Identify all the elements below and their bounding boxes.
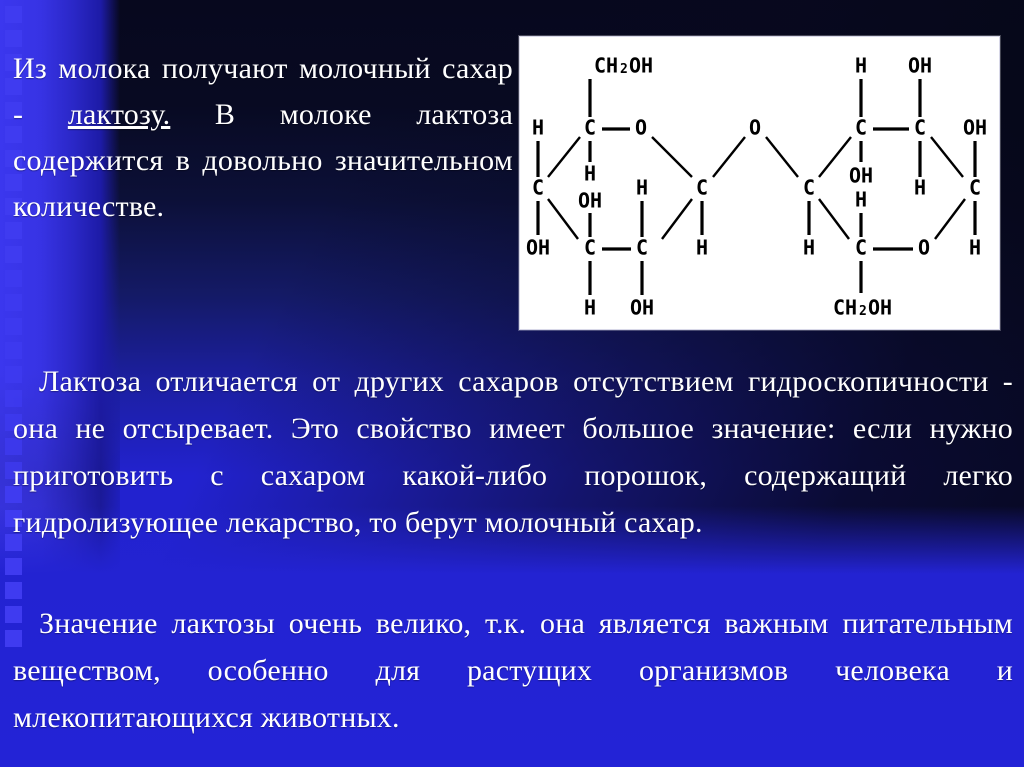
atom-sub-2-left: 2	[620, 62, 628, 77]
atom-label-oh-top-right: OH	[908, 54, 932, 78]
atom-label-c1-right: C	[969, 176, 981, 200]
bond-c4-c5-right	[819, 199, 849, 239]
bond-c4-c3-left	[548, 199, 578, 239]
paragraph-properties-text: Лактоза отличается от других сахаров отс…	[13, 365, 1013, 539]
atom-label-c4-left: C	[532, 176, 544, 200]
atom-label-h-left-of-right-ring: H	[803, 236, 815, 260]
atom-sub-2-right: 2	[859, 304, 867, 319]
atom-label-h-inner-lower-left: H	[696, 236, 708, 260]
atom-label-c4-right: C	[803, 176, 815, 200]
atom-label-ch2oh-left: CH	[594, 54, 618, 78]
atom-label-o-glycosidic: O	[749, 116, 761, 140]
atom-label-c2-left: C	[636, 236, 648, 260]
lactose-structure-panel: CH 2 OH C O H H C	[519, 36, 1000, 330]
atom-label-h-top-right: H	[855, 54, 867, 78]
atom-label-h-right-edge: H	[969, 236, 981, 260]
slide-content: Из молока получают молочный сахар - лакт…	[0, 0, 1024, 767]
atom-label-oh-left-edge: OH	[526, 236, 550, 260]
atom-label-h-inner-lower-right: H	[855, 188, 867, 212]
atom-label-h-bottom-left: H	[584, 296, 596, 320]
paragraph-importance-text: Значение лактозы очень велико, т.к. она …	[13, 607, 1013, 734]
bond-o-glycosidic-right	[766, 137, 798, 177]
atom-label-c5-right: C	[855, 236, 867, 260]
lactose-structural-formula: CH 2 OH C O H H C	[520, 37, 999, 329]
atom-label-c5-left: C	[584, 116, 596, 140]
bond-o-glycosidic-left	[713, 137, 745, 177]
atom-label-ch2oh-right: CH	[833, 296, 857, 320]
atom-label-h-upperleft: H	[532, 116, 544, 140]
atom-label-c1-left: C	[696, 176, 708, 200]
paragraph-intro: Из молока получают молочный сахар - лакт…	[13, 46, 513, 230]
atom-label-h-inner-left: H	[636, 176, 648, 200]
atom-label-h-inner-right: H	[914, 176, 926, 200]
bond-c1-o-ring-right	[935, 199, 965, 239]
atom-label-oh-bottom-right: OH	[868, 296, 892, 320]
paragraph-properties: Лактоза отличается от других сахаров отс…	[13, 358, 1013, 546]
atom-label-oh-inner-upper-right: OH	[849, 164, 873, 188]
atom-label-oh-top-left: OH	[629, 54, 653, 78]
atom-label-oh-inner-left: OH	[578, 189, 602, 213]
atom-label-oh-right-edge: OH	[963, 116, 987, 140]
atom-label-o-ring-right: O	[918, 236, 930, 260]
atom-label-c2-right: C	[914, 116, 926, 140]
bond-c2-c1-right	[931, 137, 963, 177]
atom-label-o-ring-left: O	[635, 116, 647, 140]
atom-label-c3-right: C	[855, 116, 867, 140]
slide-root: Из молока получают молочный сахар - лакт…	[0, 0, 1024, 767]
bond-o-c1-left	[652, 137, 692, 177]
atom-label-h-inner-upper-left: H	[584, 162, 596, 186]
keyword-lactose: лактозу.	[68, 98, 171, 131]
paragraph-importance: Значение лактозы очень велико, т.к. она …	[13, 600, 1013, 741]
bond-c1-c2-left	[662, 199, 692, 239]
atom-label-oh-bottom-left: OH	[630, 296, 654, 320]
bond-c5-c4-left	[548, 137, 580, 177]
bond-c3-c4-right	[819, 137, 851, 177]
atom-label-c3-left: C	[584, 236, 596, 260]
